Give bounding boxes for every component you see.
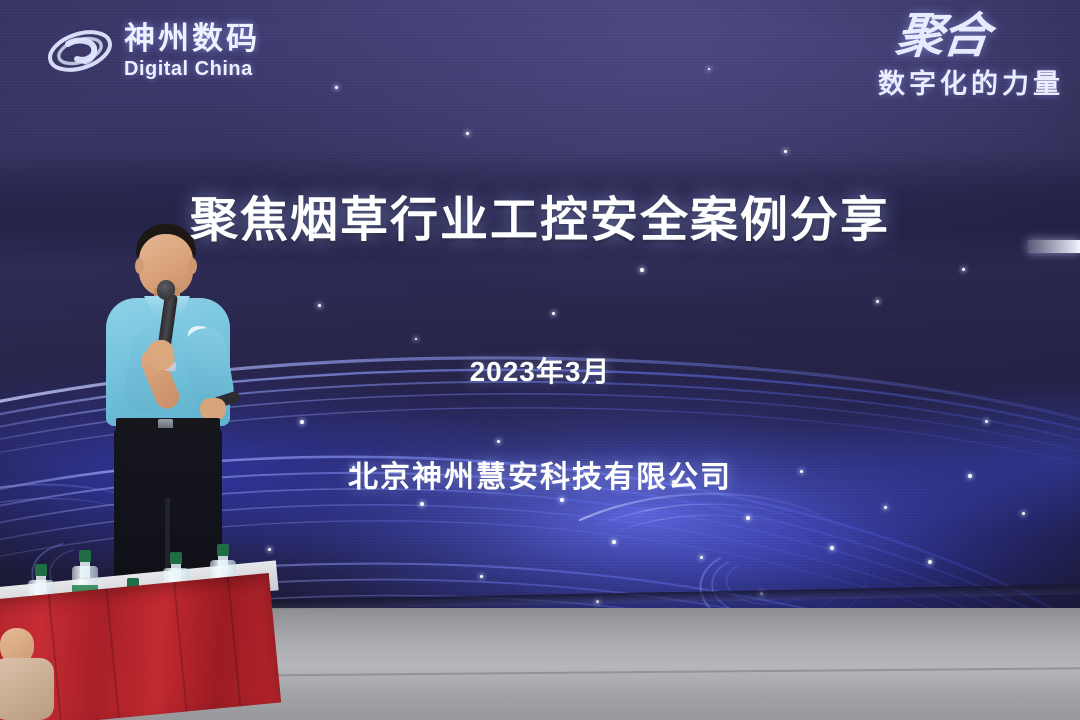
screen-edge-light-bar — [1028, 240, 1080, 253]
presenter-ear-left — [135, 258, 144, 274]
seated-attendee-body — [0, 658, 54, 720]
event-calligraphy: 聚合 — [876, 14, 1067, 60]
screenshot-root: 神州数码 Digital China 聚合 数字化的力量 聚焦烟草行业工控安全案… — [0, 0, 1080, 720]
presenter-hand-right — [200, 398, 226, 420]
presenter-ear-right — [188, 258, 197, 274]
brand-logo: 神州数码 Digital China — [44, 22, 260, 80]
brand-name-cn: 神州数码 — [124, 23, 260, 54]
brand-text: 神州数码 Digital China — [124, 23, 260, 79]
event-tagline: 数字化的力量 — [878, 62, 1064, 101]
swirl-galaxy-logo-icon — [44, 22, 116, 80]
brand-name-en: Digital China — [124, 59, 260, 79]
event-logo: 聚合 数字化的力量 — [878, 14, 1064, 101]
seated-attendee — [0, 628, 68, 720]
